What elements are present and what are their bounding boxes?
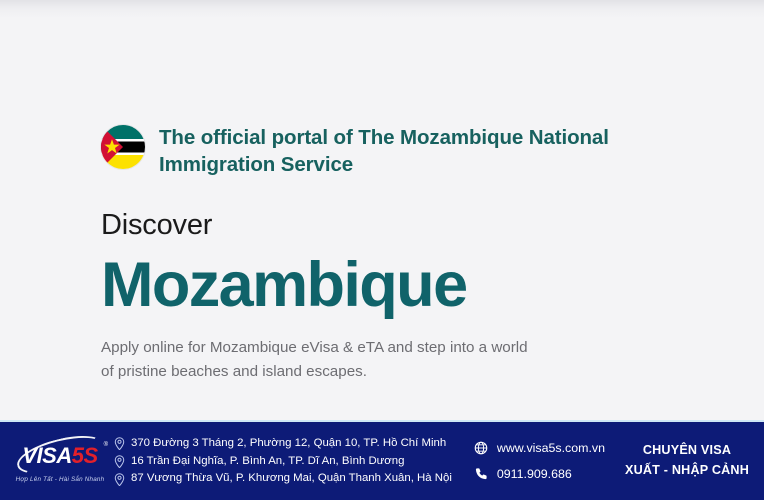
footer-address-item: 87 Vương Thừa Vũ, P. Khương Mai, Quận Th… [114, 472, 452, 486]
footer-phone-text: 0911.909.686 [497, 467, 572, 482]
footer-contact-list: www.visa5s.com.vn 0911.909.686 [474, 441, 605, 482]
footer-slogan-line2: XUẤT - NHẬP CẢNH [625, 461, 749, 481]
discover-label: Discover [101, 211, 661, 240]
page-title: Mozambique [101, 253, 661, 317]
visa5s-logo-mark: VISA5S ® [10, 440, 110, 474]
location-pin-icon [114, 437, 125, 450]
location-pin-icon [114, 473, 125, 486]
logo-registered-mark: ® [104, 442, 108, 448]
portal-title: The official portal of The Mozambique Na… [159, 124, 629, 179]
page-root: The official portal of The Mozambique Na… [0, 0, 764, 500]
mozambique-flag-icon [101, 125, 145, 169]
globe-icon [474, 441, 488, 455]
top-gradient-band [0, 0, 764, 18]
footer-address-item: 370 Đường 3 Tháng 2, Phường 12, Quận 10,… [114, 437, 452, 451]
phone-icon [474, 467, 488, 481]
footer-slogan: CHUYÊN VISA XUẤT - NHẬP CẢNH [625, 441, 749, 480]
logo-wordmark: VISA5S [10, 445, 110, 467]
footer-slogan-line1: CHUYÊN VISA [625, 441, 749, 461]
footer-phone-link[interactable]: 0911.909.686 [474, 467, 605, 482]
logo-slogan: Hợp Lên Tất - Hài Sắn Nhanh [8, 476, 112, 483]
hero-tagline: Apply online for Mozambique eVisa & eTA … [101, 336, 541, 385]
footer-address-list: 370 Đường 3 Tháng 2, Phường 12, Quận 10,… [114, 436, 452, 486]
visa5s-logo[interactable]: VISA5S ® Hợp Lên Tất - Hài Sắn Nhanh [8, 440, 112, 483]
logo-wordmark-visa: VISA [22, 443, 71, 468]
logo-wordmark-5s: 5S [72, 443, 98, 468]
footer-address-text: 16 Trần Đại Nghĩa, P. Bình An, TP. Dĩ An… [131, 455, 404, 469]
portal-row: The official portal of The Mozambique Na… [101, 124, 661, 179]
location-pin-icon [114, 455, 125, 468]
footer-website-link[interactable]: www.visa5s.com.vn [474, 441, 605, 456]
footer-address-text: 370 Đường 3 Tháng 2, Phường 12, Quận 10,… [131, 437, 446, 451]
hero-section: The official portal of The Mozambique Na… [101, 124, 661, 385]
footer-website-text: www.visa5s.com.vn [497, 441, 605, 456]
footer-bar: VISA5S ® Hợp Lên Tất - Hài Sắn Nhanh 370… [0, 420, 764, 500]
footer-address-item: 16 Trần Đại Nghĩa, P. Bình An, TP. Dĩ An… [114, 455, 452, 469]
footer-address-text: 87 Vương Thừa Vũ, P. Khương Mai, Quận Th… [131, 472, 452, 486]
